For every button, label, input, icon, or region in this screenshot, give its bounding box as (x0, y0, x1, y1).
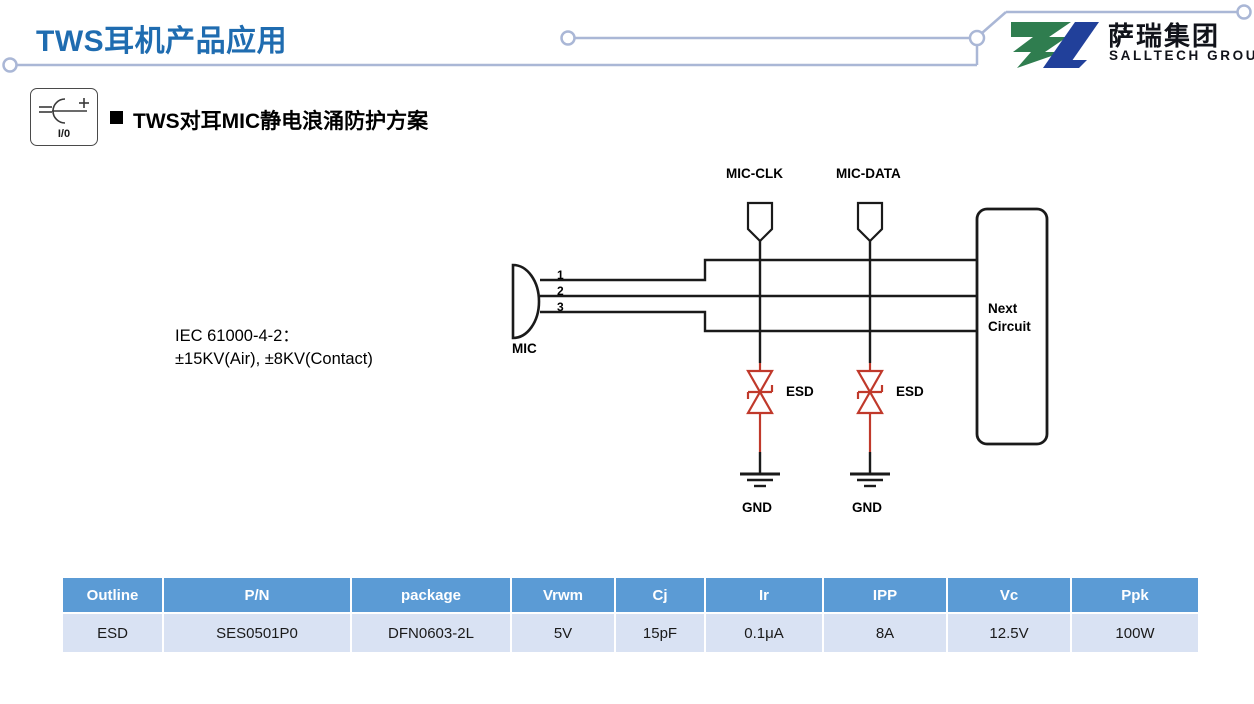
label-mic: MIC (512, 341, 537, 356)
label-gnd-2: GND (852, 500, 882, 515)
port-mic-clk-icon (748, 203, 772, 241)
cell-outline: ESD (63, 613, 163, 652)
label-gnd-1: GND (742, 500, 772, 515)
label-mic-data: MIC-DATA (836, 166, 901, 181)
cell-ppk: 100W (1071, 613, 1198, 652)
th-package: package (351, 578, 511, 613)
ground-symbol-2 (850, 452, 890, 486)
ground-symbol-1 (740, 452, 780, 486)
cell-package: DFN0603-2L (351, 613, 511, 652)
mic-symbol (513, 265, 539, 338)
table-header-row: Outline P/N package Vrwm Cj Ir IPP Vc Pp… (63, 578, 1198, 613)
th-pn: P/N (163, 578, 351, 613)
th-outline: Outline (63, 578, 163, 613)
wire-pin3 (540, 312, 977, 331)
cell-pn: SES0501P0 (163, 613, 351, 652)
pin-number-2: 2 (557, 284, 564, 298)
spec-table: Outline P/N package Vrwm Cj Ir IPP Vc Pp… (63, 578, 1198, 652)
th-ir: Ir (705, 578, 823, 613)
esd-diode-1 (748, 363, 772, 452)
next-circuit-line1: Next (988, 300, 1031, 318)
cell-vrwm: 5V (511, 613, 615, 652)
label-esd-1: ESD (786, 384, 814, 399)
cell-vc: 12.5V (947, 613, 1071, 652)
th-cj: Cj (615, 578, 705, 613)
th-ppk: Ppk (1071, 578, 1198, 613)
pin-number-1: 1 (557, 268, 564, 282)
table-row: ESD SES0501P0 DFN0603-2L 5V 15pF 0.1μA 8… (63, 613, 1198, 652)
th-ipp: IPP (823, 578, 947, 613)
next-circuit-line2: Circuit (988, 318, 1031, 336)
th-vc: Vc (947, 578, 1071, 613)
port-mic-data-icon (858, 203, 882, 241)
cell-ipp: 8A (823, 613, 947, 652)
th-vrwm: Vrwm (511, 578, 615, 613)
wire-pin1 (540, 260, 977, 280)
label-next-circuit: Next Circuit (988, 300, 1031, 336)
cell-cj: 15pF (615, 613, 705, 652)
cell-ir: 0.1μA (705, 613, 823, 652)
pin-number-3: 3 (557, 300, 564, 314)
label-esd-2: ESD (896, 384, 924, 399)
label-mic-clk: MIC-CLK (726, 166, 783, 181)
esd-diode-2 (858, 363, 882, 452)
